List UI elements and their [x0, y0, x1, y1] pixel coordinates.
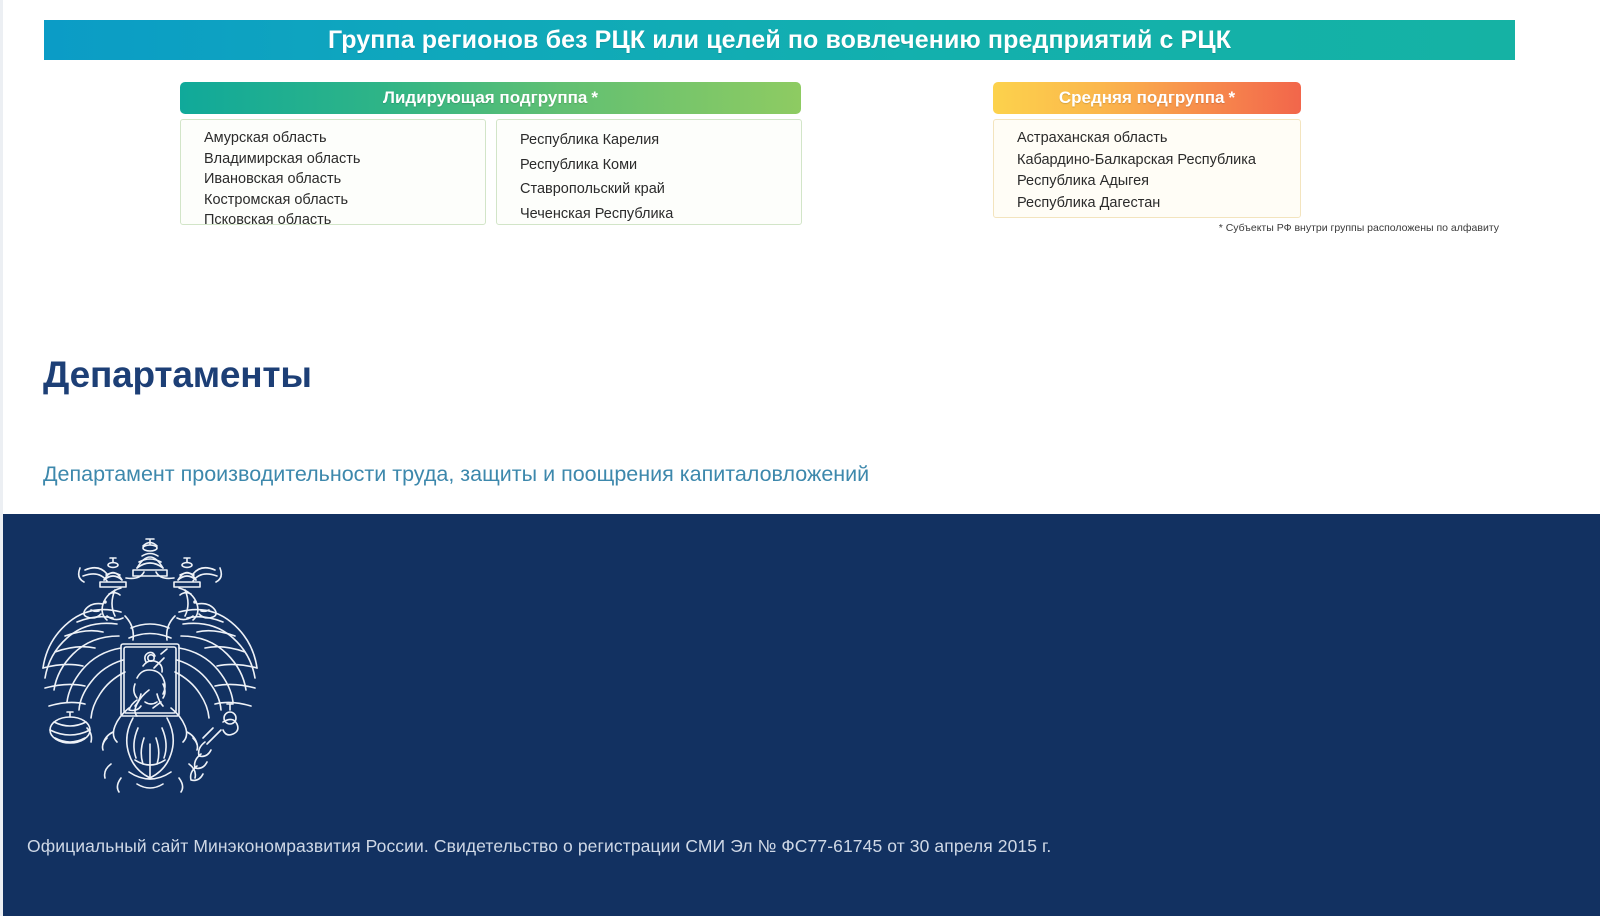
region-list-leading-col1: Амурская область Владимирская область Ив… [180, 119, 486, 225]
subgroup-header-leading: Лидирующая подгруппа * [180, 82, 801, 114]
region-item: Владимирская область [181, 149, 485, 170]
region-item: Ставропольский край [497, 177, 801, 202]
subgroup-middle-label: Средняя подгруппа [1059, 88, 1225, 108]
region-item: Республика Карелия [497, 128, 801, 153]
infographic-footnote: * Субъекты РФ внутри группы расположены … [993, 222, 1499, 234]
region-list-middle-col1: Астраханская область Кабардино-Балкарска… [993, 119, 1301, 218]
main-content: Группа регионов без РЦК или целей по вов… [0, 0, 1600, 514]
departments-section: Департаменты Департамент производительно… [43, 355, 1523, 487]
region-item: Республика Адыгея [994, 171, 1300, 193]
region-item: Республика Дагестан [994, 193, 1300, 215]
coat-of-arms-icon [25, 532, 275, 800]
subgroup-leading-star: * [591, 88, 598, 108]
subgroup-leading-label: Лидирующая подгруппа [383, 88, 587, 108]
site-footer: Официальный сайт Минэкономразвития Росси… [0, 514, 1600, 916]
footer-legal-note: Официальный сайт Минэкономразвития Росси… [27, 836, 1051, 857]
region-item: Астраханская область [994, 128, 1300, 150]
region-item: Костромская область [181, 190, 485, 211]
region-list-leading-col2: Республика Карелия Республика Коми Ставр… [496, 119, 802, 225]
region-item: Чеченская Республика [497, 202, 801, 227]
region-item: Республика Коми [497, 153, 801, 178]
page-root: Группа регионов без РЦК или целей по вов… [0, 0, 1600, 916]
region-item: Псковская область [181, 210, 485, 231]
region-item: Кабардино-Балкарская Республика [994, 150, 1300, 172]
region-item: Ивановская область [181, 169, 485, 190]
region-group-infographic: Группа регионов без РЦК или целей по вов… [3, 0, 1600, 260]
infographic-banner: Группа регионов без РЦК или целей по вов… [44, 20, 1515, 60]
department-link-productivity[interactable]: Департамент производительности труда, за… [43, 462, 869, 488]
infographic-banner-title: Группа регионов без РЦК или целей по вов… [328, 26, 1231, 55]
region-item: Амурская область [181, 128, 485, 149]
subgroup-header-middle: Средняя подгруппа * [993, 82, 1301, 114]
subgroup-middle-star: * [1229, 88, 1236, 108]
page-title: Департаменты [43, 355, 1523, 396]
